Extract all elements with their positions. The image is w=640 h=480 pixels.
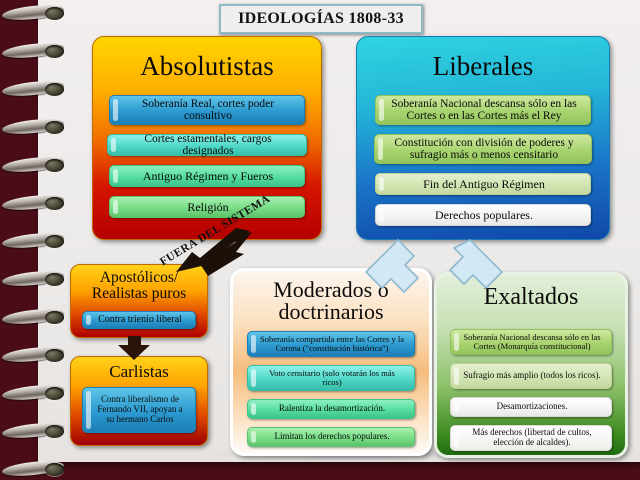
box-moderados-heading-line2: doctrinarios [233, 301, 429, 323]
list-item[interactable]: Ralentiza la desamortización. [247, 399, 415, 419]
box-exaltados-heading: Exaltados [437, 275, 625, 309]
spiral-hole [45, 273, 64, 286]
box-apostolicos-heading-line2: Realistas puros [71, 286, 207, 302]
list-item[interactable]: Fin del Antiguo Régimen [375, 173, 591, 195]
box-apostolicos-heading: Apostólicos/ Realistas puros [71, 265, 207, 302]
list-item[interactable]: Antiguo Régimen y Fueros [109, 165, 305, 187]
box-apostolicos-realistas[interactable]: Apostólicos/ Realistas puros Contra trie… [70, 264, 208, 338]
list-item[interactable]: Limitan los derechos populares. [247, 427, 415, 447]
box-carlistas-heading: Carlistas [71, 357, 207, 380]
list-item[interactable]: Soberanía compartida entre las Cortes y … [247, 331, 415, 357]
list-item[interactable]: Voto censitario (solo votarán los más ri… [247, 365, 415, 391]
box-carlistas[interactable]: Carlistas Contra liberalismo de Fernando… [70, 356, 208, 446]
spiral-hole [45, 463, 64, 476]
spiral-hole [45, 45, 64, 58]
list-item[interactable]: Más derechos (libertad de cultos, elecci… [450, 425, 612, 451]
list-item[interactable]: Constitución con división de poderes y s… [374, 134, 592, 164]
spiral-hole [45, 235, 64, 248]
box-absolutistas[interactable]: Absolutistas Soberanía Real, cortes pode… [92, 36, 322, 240]
box-liberales[interactable]: Liberales Soberanía Nacional descansa só… [356, 36, 610, 240]
diagram-title: IDEOLOGÍAS 1808-33 [219, 4, 423, 34]
spiral-hole [45, 387, 64, 400]
page-title: IDEOLOGÍAS 1808-33 [238, 10, 404, 28]
list-item[interactable]: Cortes estamentales, cargos designados [107, 134, 307, 156]
box-absolutistas-heading: Absolutistas [93, 37, 321, 81]
box-liberales-heading: Liberales [357, 37, 609, 81]
spiral-hole [45, 311, 64, 324]
list-item[interactable]: Soberanía Nacional descansa sólo en las … [375, 95, 591, 125]
list-item[interactable]: Soberanía Nacional descansa sólo en las … [450, 329, 612, 355]
box-exaltados[interactable]: Exaltados Soberanía Nacional descansa só… [434, 272, 628, 458]
spiral-hole [45, 7, 64, 20]
box-moderados-heading: Moderados o doctrinarios [233, 271, 429, 324]
list-item[interactable]: Religión [109, 196, 305, 218]
spiral-hole [45, 349, 64, 362]
list-item[interactable]: Sufragio más amplio (todos los ricos). [450, 363, 612, 389]
box-apostolicos-heading-line1: Apostólicos/ [71, 270, 207, 286]
list-item[interactable]: Derechos populares. [375, 204, 591, 226]
list-item[interactable]: Desamortizaciones. [450, 397, 612, 417]
list-item[interactable]: Soberanía Real, cortes poder consultivo [109, 95, 305, 125]
spiral-hole [45, 83, 64, 96]
box-moderados-heading-line1: Moderados o [233, 279, 429, 301]
list-item[interactable]: Contra liberalismo de Fernando VII, apoy… [82, 387, 196, 433]
spiral-hole [45, 121, 64, 134]
diagram-canvas: IDEOLOGÍAS 1808-33 Absolutistas Soberaní… [0, 0, 640, 480]
box-moderados-doctrinarios[interactable]: Moderados o doctrinarios Soberanía compa… [230, 268, 432, 456]
spiral-hole [45, 425, 64, 438]
spiral-binding [0, 0, 72, 480]
list-item[interactable]: Contra trienio liberal [82, 311, 196, 329]
spiral-hole [45, 159, 64, 172]
spiral-hole [45, 197, 64, 210]
